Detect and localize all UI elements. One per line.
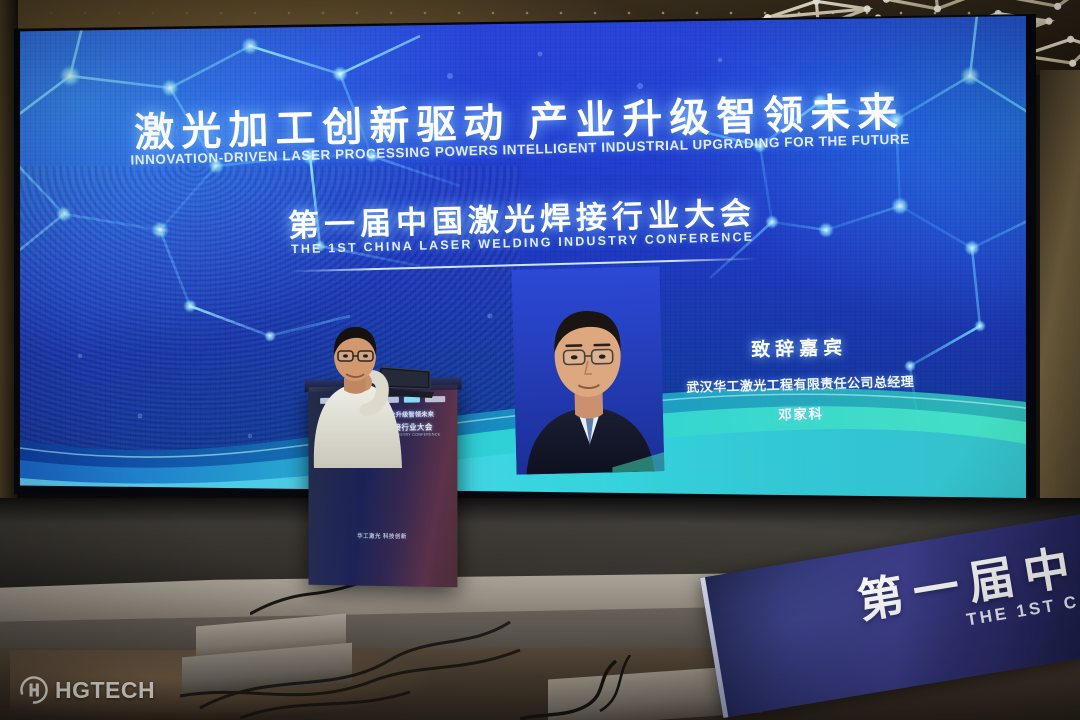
speaker-caption-block: 致辞嘉宾 武汉华工激光工程有限责任公司总经理 邓家科 (674, 331, 926, 427)
hgtech-watermark: HGTECH (20, 676, 155, 704)
caption-role-label: 致辞嘉宾 (674, 331, 925, 365)
title-divider-line (288, 258, 758, 272)
presenter-person (300, 318, 420, 468)
conference-stage-photo: 激光加工创新驱动 产业升级智领未来 INNOVATION-DRIVEN LASE… (0, 0, 1080, 720)
stage-shadow (0, 498, 1080, 524)
hgtech-brand-text: HGTECH (55, 677, 155, 704)
hgtech-logo-icon (20, 676, 48, 704)
led-screen: 激光加工创新驱动 产业升级智领未来 INNOVATION-DRIVEN LASE… (20, 16, 1026, 498)
caption-organization: 武汉华工激光工程有限责任公司总经理 (675, 371, 925, 397)
led-screen-text-block: 激光加工创新驱动 产业升级智领未来 INNOVATION-DRIVEN LASE… (20, 16, 1026, 498)
